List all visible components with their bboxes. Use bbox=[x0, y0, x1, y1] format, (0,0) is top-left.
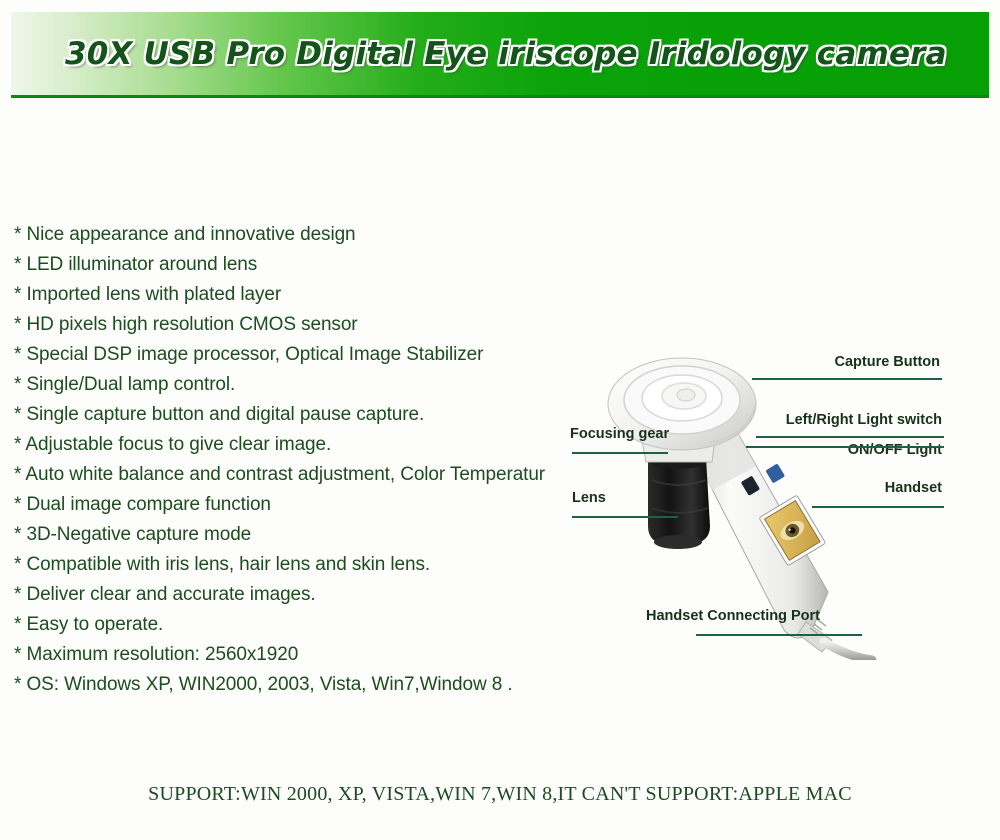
callout-label-capture-button: Capture Button bbox=[834, 354, 940, 370]
list-item: * Compatible with iris lens, hair lens a… bbox=[14, 550, 574, 580]
callout-label-light-switch: Left/Right Light switch bbox=[786, 412, 942, 428]
callout-rule-handset-connecting-port bbox=[696, 634, 862, 636]
page-title: 30X USB Pro Digital Eye iriscope Iridolo… bbox=[65, 36, 947, 72]
support-os-text: SUPPORT:WIN 2000, XP, VISTA,WIN 7,WIN 8,… bbox=[148, 783, 852, 806]
list-item: * Auto white balance and contrast adjust… bbox=[14, 460, 579, 490]
list-item: * Easy to operate. bbox=[14, 610, 574, 640]
list-item: * Special DSP image processor, Optical I… bbox=[14, 340, 574, 370]
list-item: * OS: Windows XP, WIN2000, 2003, Vista, … bbox=[14, 670, 574, 700]
callout-label-handset-connecting-port: Handset Connecting Port bbox=[646, 608, 820, 624]
header-banner: 30X USB Pro Digital Eye iriscope Iridolo… bbox=[11, 12, 989, 98]
footer: SUPPORT:WIN 2000, XP, VISTA,WIN 7,WIN 8,… bbox=[0, 783, 1000, 806]
list-item: * HD pixels high resolution CMOS sensor bbox=[14, 310, 574, 340]
list-item: * Dual image compare function bbox=[14, 490, 574, 520]
callout-label-on-off-light: ON/OFF Light bbox=[848, 442, 942, 458]
callout-label-focusing-gear: Focusing gear bbox=[570, 426, 669, 442]
list-item: * Deliver clear and accurate images. bbox=[14, 580, 574, 610]
feature-list: * Nice appearance and innovative design … bbox=[14, 220, 574, 700]
callout-rule-on-off-light bbox=[746, 446, 944, 448]
callout-label-handset: Handset bbox=[885, 480, 942, 496]
product-spec-page: 30X USB Pro Digital Eye iriscope Iridolo… bbox=[0, 0, 1000, 840]
list-item: * LED illuminator around lens bbox=[14, 250, 574, 280]
list-item: * Imported lens with plated layer bbox=[14, 280, 574, 310]
list-item: * Nice appearance and innovative design bbox=[14, 220, 574, 250]
callout-rule-handset bbox=[812, 506, 944, 508]
callout-label-lens: Lens bbox=[572, 490, 606, 506]
list-item: * 3D-Negative capture mode bbox=[14, 520, 574, 550]
list-item: * Adjustable focus to give clear image. bbox=[14, 430, 574, 460]
callout-rule-capture-button bbox=[752, 378, 942, 380]
product-photo: Capture Button Left/Right Light switch O… bbox=[560, 330, 1000, 660]
list-item: * Single/Dual lamp control. bbox=[14, 370, 574, 400]
callout-rule-focusing-gear bbox=[572, 452, 668, 454]
list-item: * Single capture button and digital paus… bbox=[14, 400, 574, 430]
callout-rule-light-switch bbox=[756, 436, 944, 438]
list-item: * Maximum resolution: 2560x1920 bbox=[14, 640, 574, 670]
callout-rule-lens bbox=[572, 516, 678, 518]
